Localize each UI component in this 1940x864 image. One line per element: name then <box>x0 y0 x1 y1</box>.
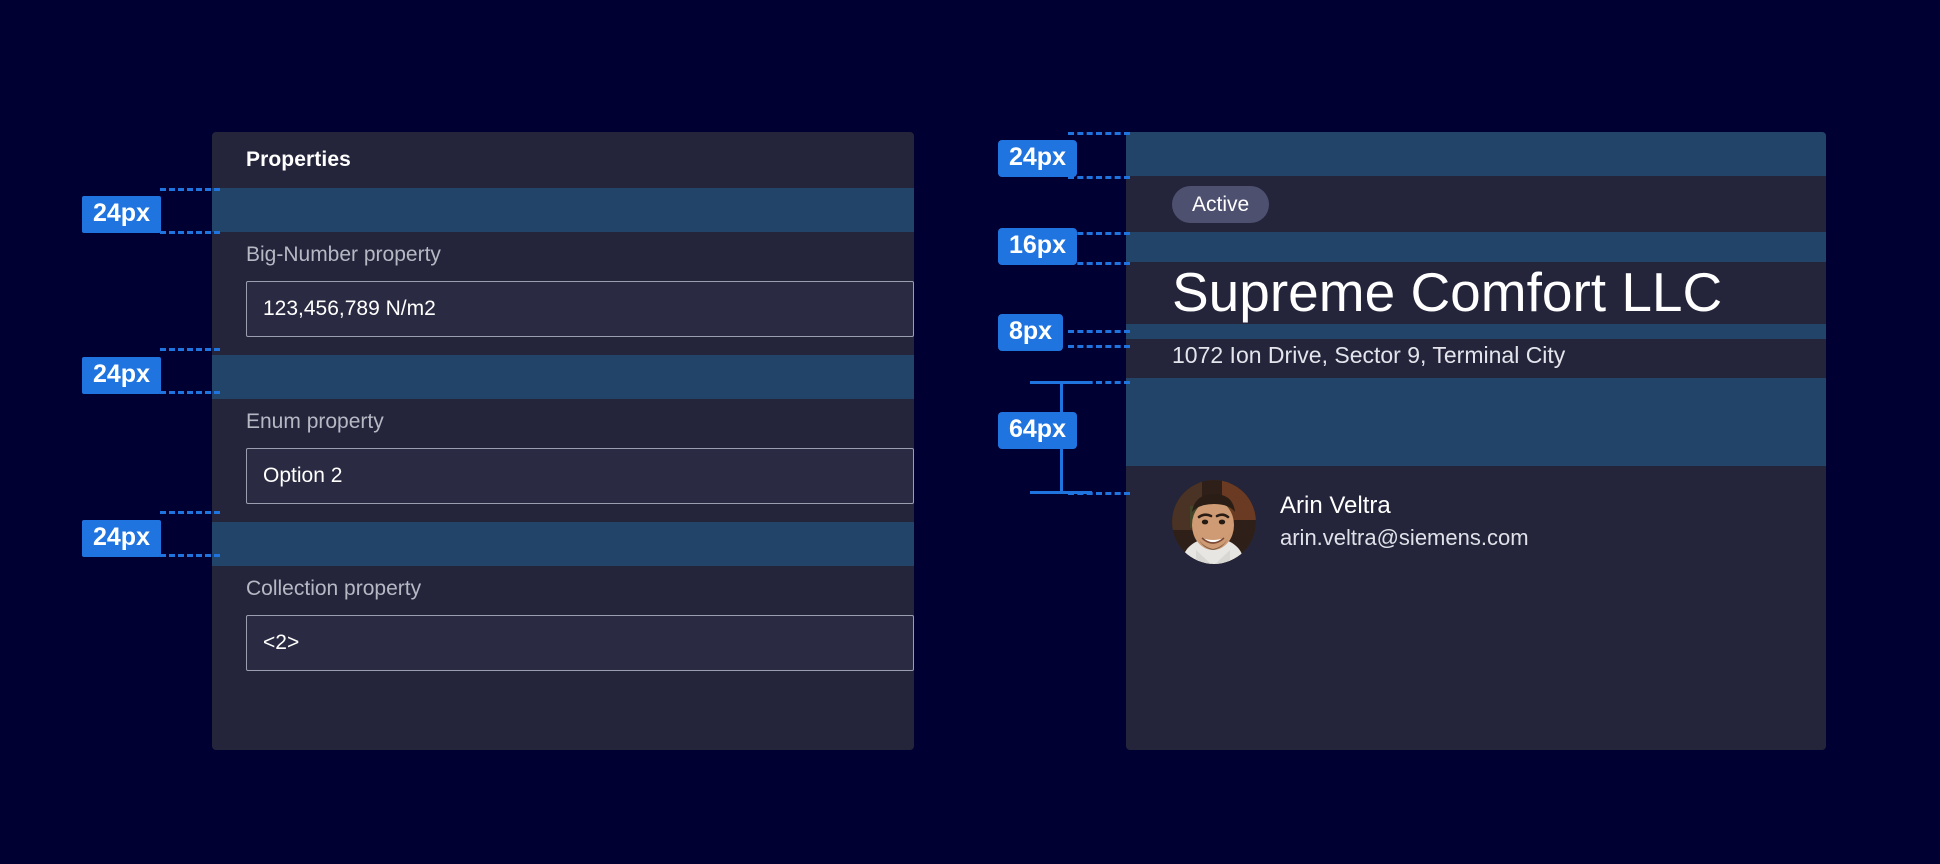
guide-line-left-1-bottom <box>160 231 220 234</box>
page-title: Properties <box>246 148 351 172</box>
guide-line-right-3-top <box>1068 330 1130 333</box>
enum-input[interactable]: Option 2 <box>246 448 914 504</box>
collection-input[interactable]: <2> <box>246 615 914 671</box>
guide-line-left-3-bottom <box>160 554 220 557</box>
contact-card-panel: Active Supreme Comfort LLC 1072 Ion Driv… <box>1126 132 1826 750</box>
big-number-input[interactable]: 123,456,789 N/m2 <box>246 281 914 337</box>
company-name: Supreme Comfort LLC <box>1172 262 1826 324</box>
design-spec-canvas: Properties Big-Number property 123,456,7… <box>0 0 1940 864</box>
spacing-highlight-1 <box>212 188 914 232</box>
field-label-big-number: Big-Number property <box>246 232 880 281</box>
guide-line-left-2-top <box>160 348 220 351</box>
spacing-highlight-16 <box>1126 232 1826 262</box>
guide-line-right-2-bottom <box>1068 262 1130 265</box>
measure-badge-right-24: 24px <box>998 140 1077 177</box>
company-address-row: 1072 Ion Drive, Sector 9, Terminal City <box>1126 339 1826 378</box>
avatar <box>1172 480 1256 564</box>
measure-badge-left-3: 24px <box>82 520 161 557</box>
measure-badge-left-1: 24px <box>82 196 161 233</box>
properties-panel-header: Properties <box>212 132 914 188</box>
contact-details: Arin Veltra arin.veltra@siemens.com <box>1256 490 1529 553</box>
guide-line-right-4-bottom <box>1068 492 1130 495</box>
spacing-highlight-2 <box>212 355 914 399</box>
guide-line-left-1-top <box>160 188 220 191</box>
status-row: Active <box>1126 176 1826 232</box>
contact-email[interactable]: arin.veltra@siemens.com <box>1280 522 1529 554</box>
field-gap-2 <box>212 504 914 522</box>
contact-person-row: Arin Veltra arin.veltra@siemens.com <box>1126 466 1826 564</box>
field-collection: Collection property <2> <box>212 566 914 671</box>
guide-line-left-3-top <box>160 511 220 514</box>
spacing-highlight-3 <box>212 522 914 566</box>
guide-line-right-1-top <box>1068 132 1130 135</box>
guide-line-right-1-bottom <box>1068 176 1130 179</box>
properties-panel: Properties Big-Number property 123,456,7… <box>212 132 914 750</box>
measure-badge-right-16: 16px <box>998 228 1077 265</box>
guide-line-right-3-bottom <box>1068 345 1130 348</box>
company-address: 1072 Ion Drive, Sector 9, Terminal City <box>1172 339 1826 378</box>
status-badge[interactable]: Active <box>1172 186 1269 223</box>
contact-name: Arin Veltra <box>1280 490 1529 521</box>
field-gap-1 <box>212 337 914 355</box>
field-enum: Enum property Option 2 <box>212 399 914 504</box>
field-big-number: Big-Number property 123,456,789 N/m2 <box>212 232 914 337</box>
field-label-enum: Enum property <box>246 399 880 448</box>
measure-badge-left-2: 24px <box>82 357 161 394</box>
measure-badge-right-64: 64px <box>998 412 1077 449</box>
company-name-row: Supreme Comfort LLC <box>1126 262 1826 324</box>
measure-badge-right-8: 8px <box>998 314 1063 351</box>
guide-line-left-2-bottom <box>160 391 220 394</box>
spacing-highlight-top <box>1126 132 1826 176</box>
spacing-highlight-8 <box>1126 324 1826 339</box>
guide-line-right-2-top <box>1068 232 1130 235</box>
guide-line-right-4-top <box>1068 381 1130 384</box>
field-label-collection: Collection property <box>246 566 880 615</box>
spacing-highlight-64 <box>1126 378 1826 466</box>
